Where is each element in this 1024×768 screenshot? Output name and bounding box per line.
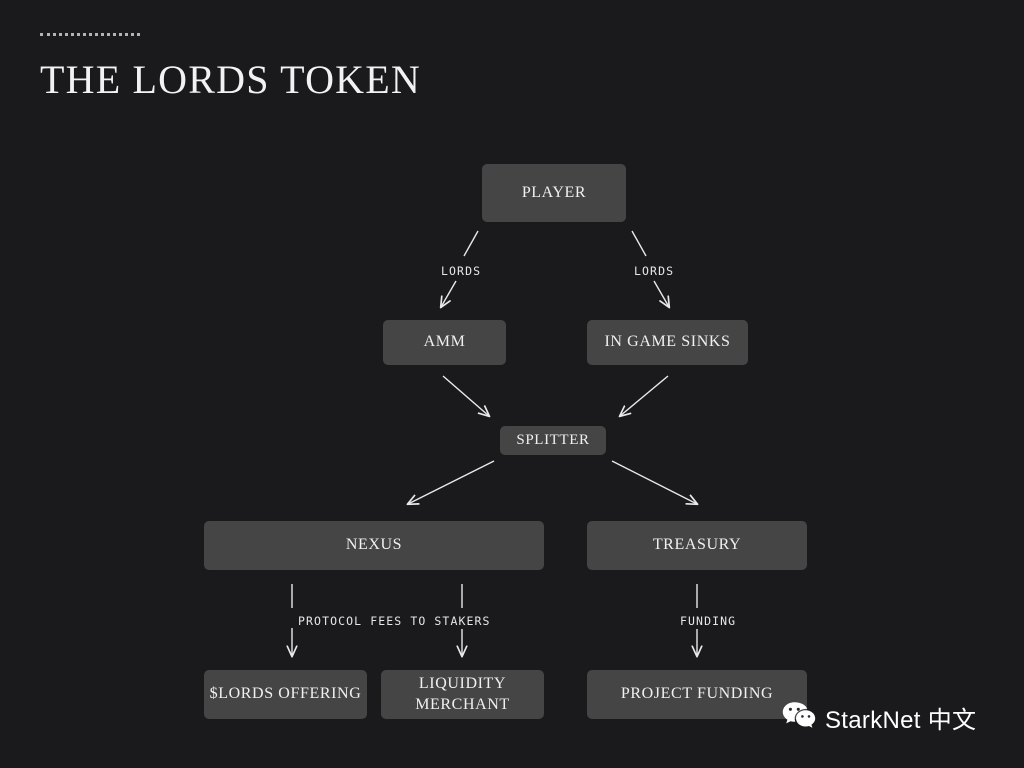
watermark-text: StarkNet 中文 (825, 700, 976, 735)
wechat-icon (782, 701, 816, 735)
node-splitter[interactable]: SPLITTER (500, 426, 606, 455)
diagram-edges (0, 0, 1024, 768)
edge-amm-splitter (443, 376, 489, 416)
dotted-rule-decoration (40, 33, 140, 36)
edge-player-amm-lower (441, 281, 456, 307)
watermark: StarkNet 中文 (782, 700, 976, 735)
node-nexus[interactable]: NEXUS (204, 521, 544, 570)
edge-label-lords-left: LORDS (437, 263, 485, 279)
edge-player-sinks-lower (654, 281, 669, 307)
edge-player-sinks-upper (632, 231, 646, 256)
node-amm[interactable]: AMM (383, 320, 506, 365)
page-title: THE LORDS TOKEN (40, 56, 421, 103)
node-liquidity-merchant[interactable]: LIQUIDITY MERCHANT (381, 670, 544, 719)
slide-canvas: THE LORDS TOKEN (0, 0, 1024, 768)
edge-label-lords-right: LORDS (630, 263, 678, 279)
node-treasury[interactable]: TREASURY (587, 521, 807, 570)
node-project-funding[interactable]: PROJECT FUNDING (587, 670, 807, 719)
edge-player-amm-upper (464, 231, 478, 256)
node-player[interactable]: PLAYER (482, 164, 626, 222)
node-in-game-sinks[interactable]: IN GAME SINKS (587, 320, 748, 365)
edge-label-protocol-fees: PROTOCOL FEES TO STAKERS (294, 613, 495, 629)
edge-sinks-splitter (620, 376, 668, 416)
node-lords-offering[interactable]: $LORDS OFFERING (204, 670, 367, 719)
edge-label-funding: FUNDING (676, 613, 740, 629)
edge-splitter-treasury (612, 461, 697, 504)
edge-splitter-nexus (408, 461, 494, 504)
